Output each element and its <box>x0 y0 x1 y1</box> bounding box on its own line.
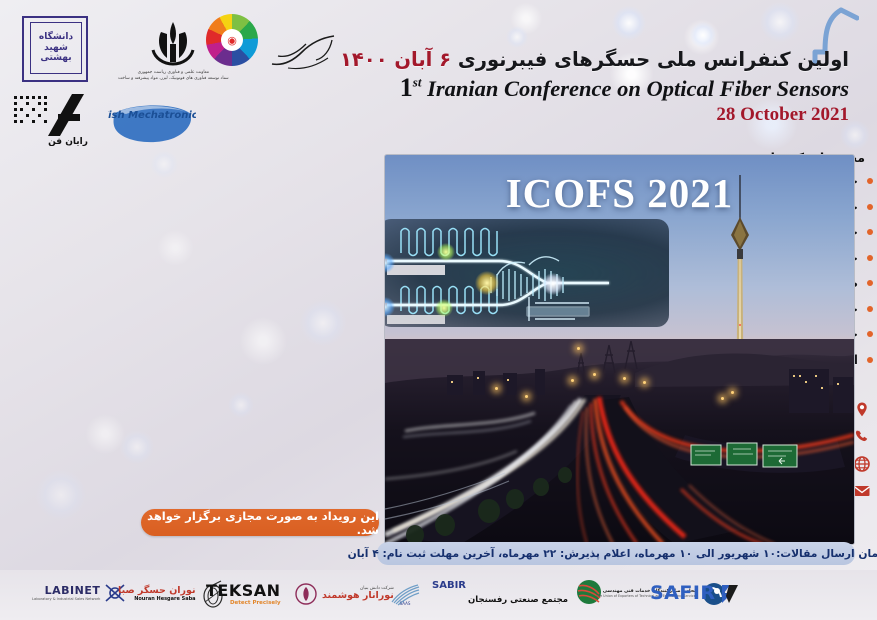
labinet-sub: Laboratory & Industrial Sales Network <box>32 597 100 601</box>
envelope-icon <box>853 482 871 500</box>
location-pin-icon <box>853 401 871 419</box>
bokeh-light <box>690 22 716 48</box>
kish-mechatronics-logo: Kish Mechatronics <box>108 100 196 150</box>
street-light <box>525 395 528 398</box>
teksan-label: TEKSAN <box>206 582 281 600</box>
top-sponsor-logos: دانشگاه شهید بهشتی معاونت علمی و فناوری … <box>0 6 352 148</box>
deadlines-banner: زمان ارسال مقالات:۱۰ شهریور الی ۱۰ مهرما… <box>377 542 855 565</box>
iran-emblem-icon <box>147 20 199 66</box>
kish-mechatronics-label: Kish Mechatronics <box>108 110 196 121</box>
rayan-fan-mark-icon: رایان فن <box>10 92 96 146</box>
bokeh-light <box>760 2 800 42</box>
safir-label: SAFIR <box>650 583 716 604</box>
deadlines-text: زمان ارسال مقالات:۱۰ شهریور الی ۱۰ مهرما… <box>348 547 877 560</box>
conference-poster: دانشگاه شهید بهشتی معاونت علمی و فناوری … <box>0 0 877 620</box>
bullet-dot-icon <box>867 229 873 235</box>
nooratar-hooshmand-logo: شرکت دانش بنیان نورانار هوشمند <box>294 582 394 606</box>
presidency-caption-line2: ستاد توسعه فناوری های فوتونیک، لیزر، موا… <box>118 76 229 82</box>
title-persian-main: اولین کنفرانس ملی حسگرهای فیبرنوری <box>458 48 849 71</box>
street-light <box>623 377 626 380</box>
title-english-text: Iranian Conference on Optical Fiber Sens… <box>427 76 849 101</box>
bokeh-light <box>612 6 646 40</box>
street-light <box>721 397 724 400</box>
saas-logo: SAAS <box>390 582 420 606</box>
bullet-dot-icon <box>867 204 873 210</box>
rayan-fan-logo: رایان فن <box>10 92 96 150</box>
icofs-title: ICOFS 2021 <box>385 169 854 217</box>
bullet-dot-icon <box>867 331 873 337</box>
title-ordinal: 1st <box>400 73 422 102</box>
waveguide-diagram-icon <box>384 219 669 327</box>
saas-mark-icon: SAAS <box>390 582 420 606</box>
bullet-dot-icon <box>867 306 873 312</box>
conference-date-english: 28 October 2021 <box>329 104 849 126</box>
rayan-fan-label: رایان فن <box>48 137 88 146</box>
bottom-sponsor-logos: LABINET Laboratory & Industrial Sales Ne… <box>0 570 877 620</box>
chip-glow <box>542 273 564 295</box>
nooratar-label: نورانار هوشمند <box>322 591 394 601</box>
bullet-dot-icon <box>867 178 873 184</box>
opsi-ring-icon: ◉ <box>206 14 258 66</box>
poster-headline: اولین کنفرانس ملی حسگرهای فیبرنوری ۶ آبا… <box>329 48 849 126</box>
bokeh-light <box>300 300 346 346</box>
sabir-logo: SABIR <box>432 580 466 591</box>
bokeh-light <box>228 392 254 418</box>
labinet-label: LABINET <box>32 585 100 597</box>
highway-night-scene <box>385 339 854 544</box>
bullet-dot-icon <box>867 357 873 363</box>
bokeh-light <box>150 150 178 178</box>
nouran-sub: Nouran Hesgare Saba <box>118 596 196 602</box>
main-conference-image: ICOFS 2021 <box>384 154 855 545</box>
shahid-beheshti-university-logo: دانشگاه شهید بهشتی <box>22 16 88 82</box>
virtual-event-banner: این رویداد به صورت مجازی برگزار خواهد شد… <box>141 509 379 536</box>
title-english: 1st Iranian Conference on Optical Fiber … <box>329 73 849 103</box>
bullet-dot-icon <box>867 255 873 261</box>
rafsanjan-industrial-complex-logo: مجتمع صنعتی رفسنجان <box>468 578 606 608</box>
teksan-logo: TEKSAN Detect Precisely <box>206 582 281 606</box>
title-persian: اولین کنفرانس ملی حسگرهای فیبرنوری ۶ آبا… <box>329 48 849 71</box>
sbu-logo-text: دانشگاه شهید بهشتی <box>30 22 82 74</box>
chip-glow <box>435 299 453 317</box>
teksan-sub: Detect Precisely <box>206 600 281 606</box>
street-light <box>731 391 734 394</box>
saas-label: SAAS <box>400 601 411 606</box>
street-light <box>593 373 596 376</box>
labinet-logo: LABINET Laboratory & Industrial Sales Ne… <box>32 582 126 604</box>
street-light <box>643 381 646 384</box>
virtual-event-text: این رویداد به صورت مجازی برگزار خواهد شد… <box>141 509 379 537</box>
street-light <box>495 387 498 390</box>
nooratar-mark-icon <box>294 582 318 606</box>
photonic-chip-graphic <box>384 219 669 327</box>
globe-icon <box>853 455 871 473</box>
title-persian-date: ۶ آبان ۱۴۰۰ <box>340 48 451 71</box>
highway-scene-graphic <box>385 339 854 544</box>
bokeh-light <box>36 470 86 520</box>
chip-glow <box>475 271 499 295</box>
safir-mark-icon <box>720 582 740 604</box>
nouran-label: نوران حسگر صبا <box>118 586 196 596</box>
phone-icon <box>853 428 871 446</box>
rafsanjan-label: مجتمع صنعتی رفسنجان <box>468 596 568 605</box>
street-light <box>571 379 574 382</box>
street-light <box>577 347 580 350</box>
chip-glow <box>437 243 455 261</box>
bullet-dot-icon <box>867 280 873 286</box>
bokeh-light <box>506 26 528 48</box>
bokeh-light <box>120 430 154 464</box>
sabir-label: SABIR <box>432 580 466 591</box>
kish-mechatronics-mark-icon: Kish Mechatronics <box>108 100 196 146</box>
optics-photonics-society-of-iran-logo: ◉ <box>206 14 258 66</box>
safir-logo: SAFIR <box>650 582 740 604</box>
